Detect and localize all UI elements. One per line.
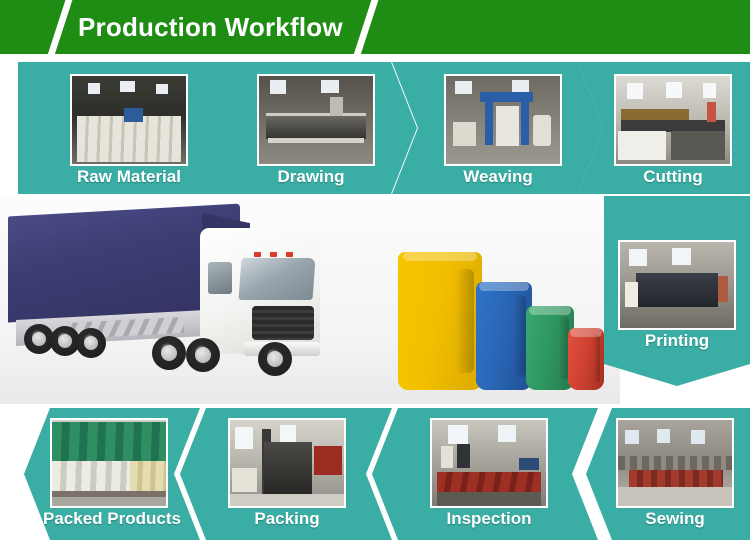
window-glare-icon — [691, 430, 705, 444]
window-glare-icon — [88, 83, 101, 94]
step-weaving-thumbnail — [444, 74, 562, 166]
thumb-scene — [618, 420, 732, 506]
front-grille — [252, 306, 314, 340]
step-packed-products-label: Packed Products — [36, 508, 188, 530]
thumb-scene — [446, 76, 560, 164]
window-glare-icon — [235, 427, 253, 449]
cutting-table — [618, 131, 666, 161]
header-banner: Production Workflow — [0, 0, 750, 54]
step-printing-label: Printing — [604, 330, 750, 352]
window-glare-icon — [657, 429, 671, 443]
white-bales — [52, 461, 130, 490]
step-raw-material-label: Raw Material — [18, 166, 240, 188]
worker-figure — [457, 444, 470, 468]
step-sewing[interactable]: Sewing — [586, 408, 750, 540]
fabric-roll — [533, 115, 551, 147]
fabric-roll — [496, 106, 519, 146]
roof-marker-light-icon — [286, 252, 293, 257]
loom-frame — [480, 92, 532, 103]
step-packing[interactable]: Packing — [180, 408, 392, 540]
window-glare-icon — [270, 80, 286, 94]
step-cutting-label: Cutting — [614, 166, 732, 188]
sewing-machine-row — [618, 456, 732, 470]
fabric-bundle — [519, 458, 540, 470]
step-printing[interactable]: Printing — [604, 196, 750, 386]
thumb-scene — [259, 76, 373, 164]
window-glare-icon — [156, 84, 167, 94]
fabric-sheet — [621, 109, 689, 120]
step-inspection-thumbnail — [430, 418, 548, 508]
bag-sample-yellow — [398, 252, 482, 390]
baling-press — [264, 442, 312, 495]
duct — [330, 97, 344, 116]
step-sewing-thumbnail — [616, 418, 734, 508]
step-raw-material-thumbnail — [70, 74, 188, 166]
windshield — [239, 258, 316, 300]
worker-figure — [707, 102, 716, 121]
white-bale — [232, 468, 257, 492]
fabric-roll — [453, 122, 476, 147]
window-glare-icon — [120, 81, 135, 92]
step-packed-products[interactable]: Packed Products — [24, 408, 200, 540]
inspection-table — [437, 492, 542, 506]
worker-figure — [124, 108, 142, 122]
window-glare-icon — [629, 249, 647, 266]
bag-sample-blue — [476, 282, 532, 390]
drawing-machine-line — [266, 113, 366, 139]
step-raw-material[interactable]: Raw Material — [18, 62, 240, 194]
pallet — [52, 491, 166, 498]
woven-bag-samples — [398, 240, 608, 390]
raw-material-bag-stack — [77, 116, 182, 162]
side-window — [208, 262, 232, 294]
trailer-wheel — [76, 328, 106, 358]
red-fabric — [314, 446, 341, 475]
red-bags-on-table — [437, 472, 542, 493]
thumb-scene — [616, 76, 730, 164]
bag-sample-green — [526, 306, 574, 390]
window-glare-icon — [512, 80, 529, 91]
paper-roll — [625, 282, 639, 308]
window-glare-icon — [498, 425, 516, 442]
machine-base — [671, 131, 726, 161]
loom-column — [485, 102, 493, 144]
tractor-wheel — [186, 338, 220, 372]
thumb-scene — [432, 420, 546, 506]
red-fabric-pile — [629, 470, 722, 487]
step-packing-thumbnail — [228, 418, 346, 508]
window-glare-icon — [321, 80, 339, 93]
steer-wheel — [258, 342, 292, 376]
step-drawing-label: Drawing — [205, 166, 417, 188]
roof-marker-light-icon — [254, 252, 261, 257]
window-glare-icon — [666, 82, 682, 98]
page-title: Production Workflow — [78, 10, 343, 44]
step-inspection[interactable]: Inspection — [372, 408, 598, 540]
step-inspection-label: Inspection — [430, 508, 548, 530]
warehouse-floor — [52, 497, 166, 506]
step-drawing-thumbnail — [257, 74, 375, 166]
step-packing-label: Packing — [228, 508, 346, 530]
window-glare-icon — [455, 81, 472, 93]
worker-figure — [441, 446, 452, 468]
yellow-bales — [130, 461, 166, 490]
tractor-wheel — [152, 336, 186, 370]
center-product-photo — [0, 196, 620, 404]
step-sewing-label: Sewing — [616, 508, 734, 530]
step-printing-thumbnail — [618, 240, 736, 330]
bag-sample-red — [568, 328, 604, 390]
truck-illustration — [4, 202, 404, 392]
loom-column — [521, 102, 529, 144]
machine-rail — [268, 138, 364, 143]
thumb-scene — [72, 76, 186, 164]
step-drawing[interactable]: Drawing — [205, 62, 417, 194]
window-glare-icon — [625, 430, 639, 444]
window-glare-icon — [672, 248, 690, 265]
step-packed-products-thumbnail — [50, 418, 168, 508]
workflow-infographic: Production Workflow — [0, 0, 750, 552]
thumb-scene — [620, 242, 734, 328]
thumb-scene — [52, 420, 166, 506]
green-wrapped-bales — [52, 422, 166, 462]
window-glare-icon — [448, 425, 469, 444]
roof-marker-light-icon — [270, 252, 277, 257]
thumb-scene — [230, 420, 344, 506]
step-weaving[interactable]: Weaving — [392, 62, 604, 194]
factory-floor — [618, 487, 732, 506]
window-glare-icon — [703, 83, 717, 98]
factory-floor — [230, 494, 344, 506]
printing-press — [636, 273, 718, 307]
step-weaving-label: Weaving — [392, 166, 604, 188]
banner-slash-left-icon — [44, 0, 75, 54]
window-glare-icon — [627, 83, 643, 99]
worker-figure — [718, 276, 728, 302]
banner-slash-right-icon — [350, 0, 381, 54]
step-cutting-thumbnail — [614, 74, 732, 166]
